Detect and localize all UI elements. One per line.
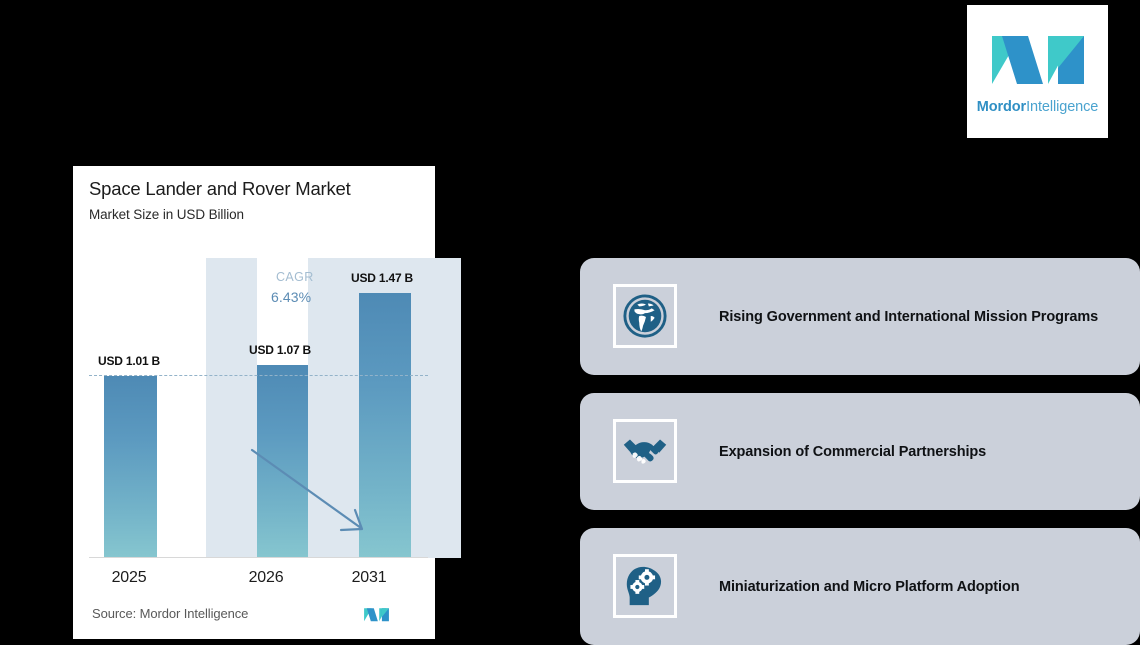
chart-cagr-value: 6.43% [271, 289, 311, 305]
driver-icon-box [613, 419, 677, 483]
mordor-logo-mark-small-icon [363, 606, 390, 623]
driver-icon-box [613, 554, 677, 618]
head-gears-icon [622, 563, 668, 609]
driver-card-commercial-partnerships[interactable]: Expansion of Commercial Partnerships [580, 393, 1140, 510]
driver-card-miniaturization-adoption[interactable]: Miniaturization and Micro Platform Adopt… [580, 528, 1140, 645]
chart-title: Space Lander and Rover Market [89, 178, 351, 200]
chart-xtick-2025: 2025 [79, 569, 179, 587]
driver-label: Expansion of Commercial Partnerships [719, 393, 986, 510]
handshake-icon [622, 431, 668, 471]
logo-word-intelligence: Intelligence [1026, 99, 1098, 115]
chart-xtick-2031: 2031 [319, 569, 419, 587]
globe-icon [622, 293, 668, 339]
chart-source-text: Source: Mordor Intelligence [92, 606, 248, 621]
chart-axis-line [89, 557, 428, 558]
chart-xtick-2026: 2026 [216, 569, 316, 587]
driver-label: Miniaturization and Micro Platform Adopt… [719, 528, 1019, 645]
chart-cagr-label: CAGR [276, 270, 314, 284]
mordor-intelligence-logo-badge: MordorIntelligence [967, 5, 1108, 138]
chart-cagr-arrow-icon [89, 258, 428, 558]
chart-plot-inner: USD 1.01 B USD 1.07 B USD 1.47 B CAGR 6.… [89, 258, 428, 558]
market-size-chart-card: Space Lander and Rover Market Market Siz… [73, 166, 435, 639]
driver-icon-box [613, 284, 677, 348]
driver-label: Rising Government and International Miss… [719, 258, 1098, 375]
driver-card-rising-government-programs[interactable]: Rising Government and International Miss… [580, 258, 1140, 375]
logo-wordmark: MordorIntelligence [977, 99, 1099, 115]
chart-subtitle: Market Size in USD Billion [89, 207, 244, 222]
mordor-logo-mark-icon [988, 28, 1088, 90]
chart-plot-area: USD 1.01 B USD 1.07 B USD 1.47 B CAGR 6.… [89, 258, 428, 558]
logo-word-mordor: Mordor [977, 99, 1026, 115]
